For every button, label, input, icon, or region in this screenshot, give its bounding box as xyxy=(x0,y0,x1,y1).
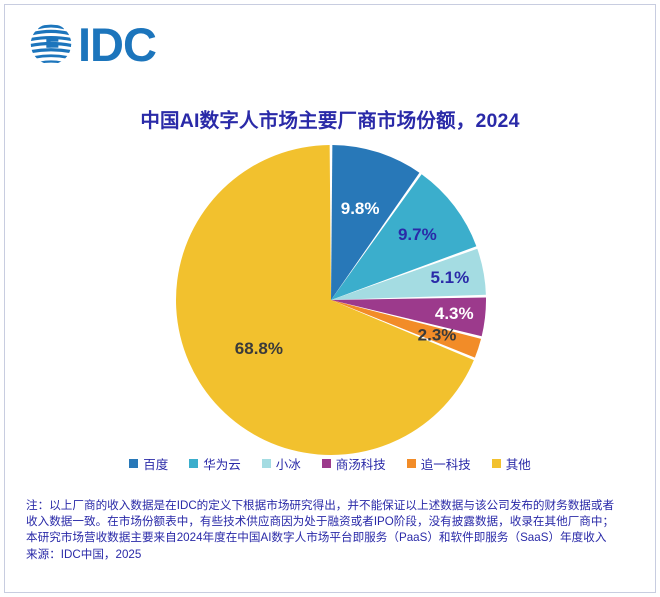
page-title: 中国AI数字人市场主要厂商市场份额，2024 xyxy=(0,104,660,133)
chart-page: IDC 中国AI数字人市场主要厂商市场份额，2024 9.8%9.7%5.1%4… xyxy=(0,0,660,597)
footnote-block: 注：以上厂商的收入数据是在IDC的定义下根据市场研究得出，并不能保证以上述数据与… xyxy=(26,498,638,563)
pie-chart: 9.8%9.7%5.1%4.3%2.3%68.8% xyxy=(0,140,660,456)
legend-item-label: 小冰 xyxy=(276,454,301,473)
pie-slice-label: 68.8% xyxy=(235,339,283,358)
globe-icon xyxy=(28,21,74,67)
pie-slice-label: 2.3% xyxy=(418,325,457,344)
legend-item[interactable]: 商汤科技 xyxy=(322,454,386,473)
legend-item[interactable]: 追一科技 xyxy=(407,454,471,473)
legend-swatch-icon xyxy=(492,459,501,468)
pie-slice-label: 9.7% xyxy=(398,225,437,244)
pie-slice-label: 5.1% xyxy=(430,268,469,287)
legend-item[interactable]: 百度 xyxy=(129,454,168,473)
legend-swatch-icon xyxy=(189,459,198,468)
legend-item-label: 其他 xyxy=(506,454,531,473)
legend-swatch-icon xyxy=(262,459,271,468)
legend-item[interactable]: 小冰 xyxy=(262,454,301,473)
legend-item-label: 追一科技 xyxy=(421,454,471,473)
footnote-line-3: 本研究市场营收数据主要来自2024年度在中国AI数字人市场平台即服务（PaaS）… xyxy=(26,530,638,546)
legend-swatch-icon xyxy=(129,459,138,468)
idc-logo: IDC xyxy=(28,18,156,70)
pie-slice-label: 4.3% xyxy=(435,304,474,323)
legend-swatch-icon xyxy=(407,459,416,468)
legend-item[interactable]: 华为云 xyxy=(189,454,241,473)
legend-item-label: 商汤科技 xyxy=(336,454,386,473)
pie-slices xyxy=(176,145,486,455)
footnote-source-line: 来源：IDC中国，2025 xyxy=(26,547,638,563)
legend-item-label: 华为云 xyxy=(203,454,241,473)
pie-chart-svg: 9.8%9.7%5.1%4.3%2.3%68.8% xyxy=(0,140,660,456)
logo-wordmark: IDC xyxy=(78,21,156,68)
legend-swatch-icon xyxy=(322,459,331,468)
legend-item-label: 百度 xyxy=(143,454,168,473)
chart-legend: 百度华为云小冰商汤科技追一科技其他 xyxy=(0,454,660,473)
legend-item[interactable]: 其他 xyxy=(492,454,531,473)
footnote-line-2: 收入数据一致。在市场份额表中，有些技术供应商因为处于融资或者IPO阶段，没有披露… xyxy=(26,514,638,530)
footnote-line-1: 注：以上厂商的收入数据是在IDC的定义下根据市场研究得出，并不能保证以上述数据与… xyxy=(26,498,638,514)
pie-slice-label: 9.8% xyxy=(341,199,380,218)
